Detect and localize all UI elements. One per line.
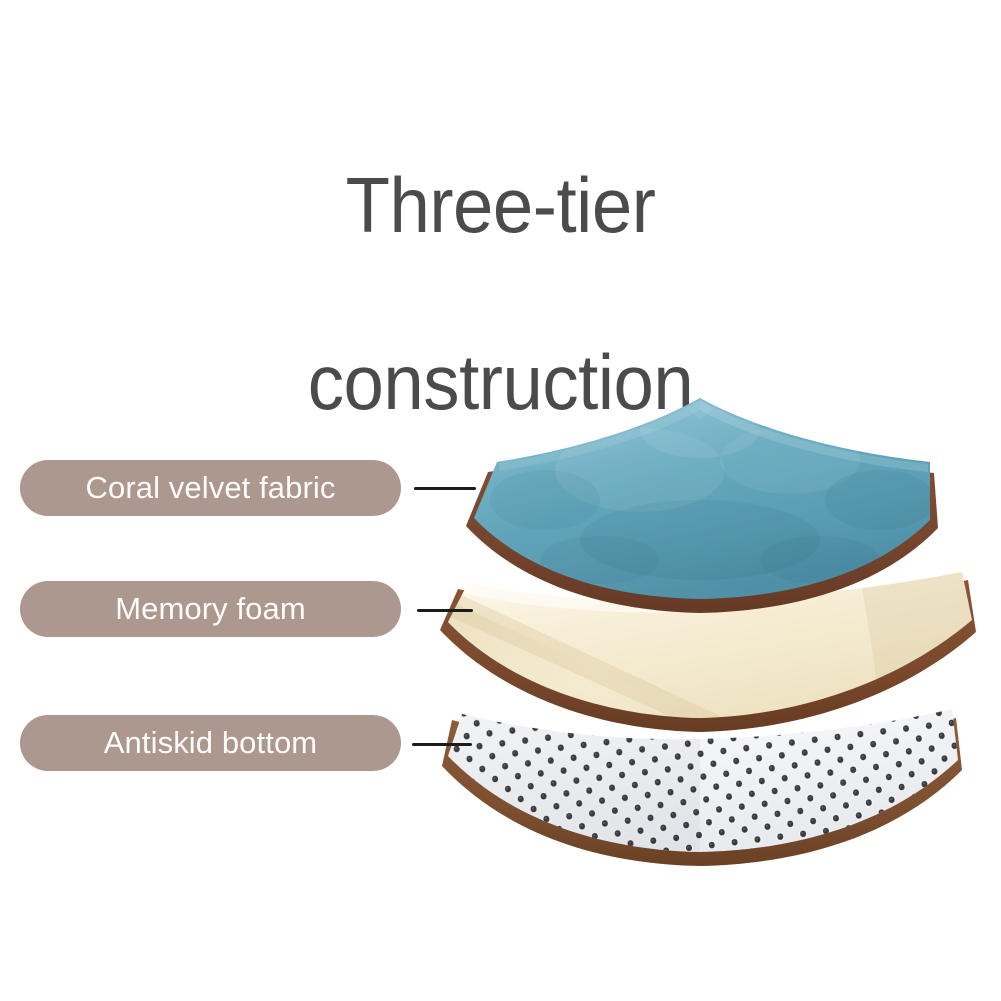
page-title-line-2: construction xyxy=(35,343,966,423)
leader-line-icon-antiskid-bottom xyxy=(412,743,472,746)
leader-line-icon-memory-foam xyxy=(417,609,473,612)
label-text-memory-foam: Memory foam xyxy=(115,591,306,627)
label-pill-coral-velvet-fabric[interactable]: Coral velvet fabric xyxy=(20,460,401,516)
leader-line-icon-coral-velvet-fabric xyxy=(414,487,476,490)
memory-foam-layer xyxy=(430,565,985,740)
label-text-antiskid-bottom: Antiskid bottom xyxy=(104,725,317,761)
page-title-line-1: Three-tier xyxy=(35,166,966,246)
label-pill-memory-foam[interactable]: Memory foam xyxy=(20,581,401,637)
product-infographic: Three-tier construction xyxy=(0,0,1001,1001)
antiskid-bottom-layer xyxy=(420,690,1000,880)
label-text-coral-velvet-fabric: Coral velvet fabric xyxy=(86,470,336,506)
page-title: Three-tier construction xyxy=(35,86,966,502)
antiskid-dot-pattern xyxy=(420,690,1000,880)
label-pill-antiskid-bottom[interactable]: Antiskid bottom xyxy=(20,715,401,771)
